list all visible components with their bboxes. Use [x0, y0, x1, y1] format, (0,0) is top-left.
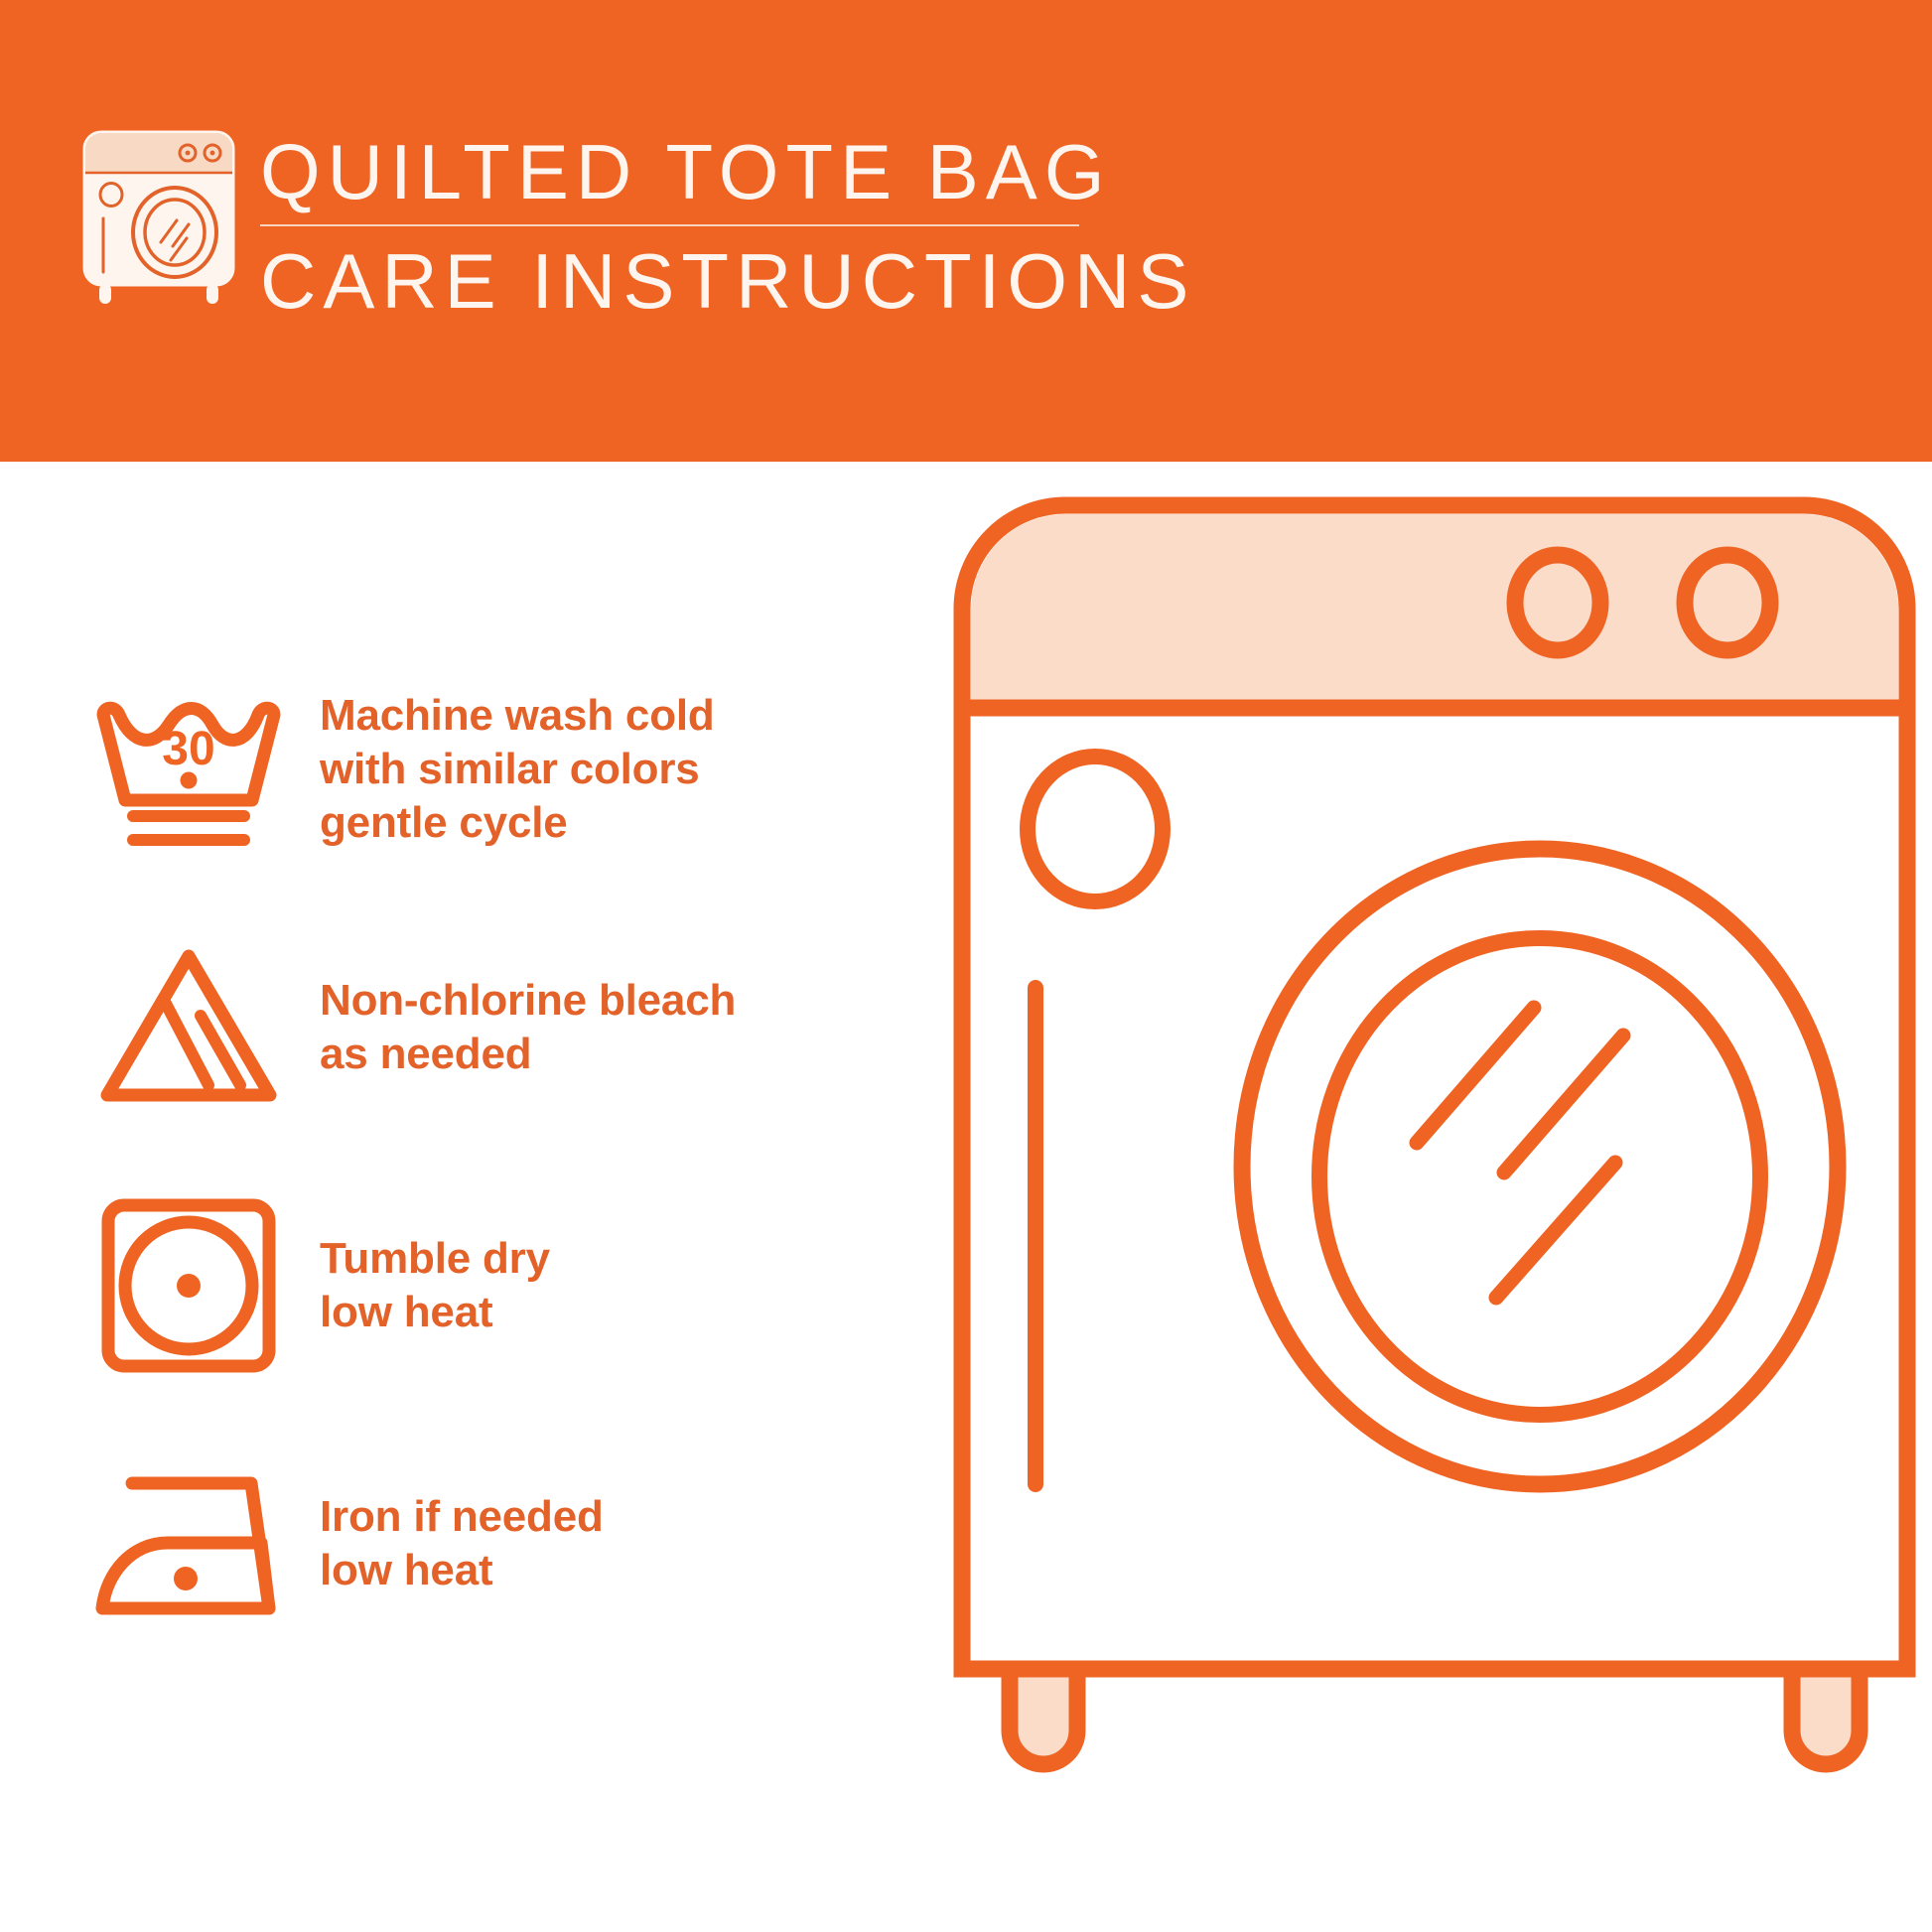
knob-right: [1685, 555, 1770, 650]
care-item-iron: Iron if needed low heat: [79, 1415, 933, 1673]
header-content: QUILTED TOTE BAG CARE INSTRUCTIONS: [79, 127, 1195, 320]
leg-right: [1792, 1669, 1860, 1764]
header-banner: QUILTED TOTE BAG CARE INSTRUCTIONS: [0, 0, 1932, 462]
iron-low-heat-icon: [79, 1459, 298, 1628]
washing-machine-icon: [79, 127, 238, 308]
care-item-label: Iron if needed low heat: [320, 1490, 604, 1596]
wash-temperature-label: 30: [162, 723, 214, 775]
main-content: 30 Machine wash cold with similar colors…: [0, 462, 1932, 1932]
washing-machine-svg: [948, 491, 1921, 1822]
knob-left: [1515, 555, 1600, 650]
care-instruction-list: 30 Machine wash cold with similar colors…: [79, 640, 933, 1673]
care-item-label: Non-chlorine bleach as needed: [320, 974, 736, 1080]
washing-machine-illustration: [948, 491, 1921, 1822]
header-title-block: QUILTED TOTE BAG CARE INSTRUCTIONS: [260, 133, 1195, 320]
page-subtitle: CARE INSTRUCTIONS: [260, 242, 1195, 320]
care-item-machine-wash: 30 Machine wash cold with similar colors…: [79, 640, 933, 898]
care-item-label: Machine wash cold with similar colors ge…: [320, 689, 715, 849]
leg-left: [1010, 1669, 1077, 1764]
care-item-label: Tumble dry low heat: [320, 1232, 550, 1338]
wash-tub-30-gentle-icon: 30: [79, 685, 298, 854]
non-chlorine-bleach-triangle-icon: [79, 938, 298, 1117]
care-item-bleach: Non-chlorine bleach as needed: [79, 898, 933, 1157]
tumble-dry-low-icon: [79, 1191, 298, 1380]
page-title: QUILTED TOTE BAG: [260, 133, 1195, 210]
care-item-tumble-dry: Tumble dry low heat: [79, 1157, 933, 1415]
title-divider: [260, 224, 1079, 226]
